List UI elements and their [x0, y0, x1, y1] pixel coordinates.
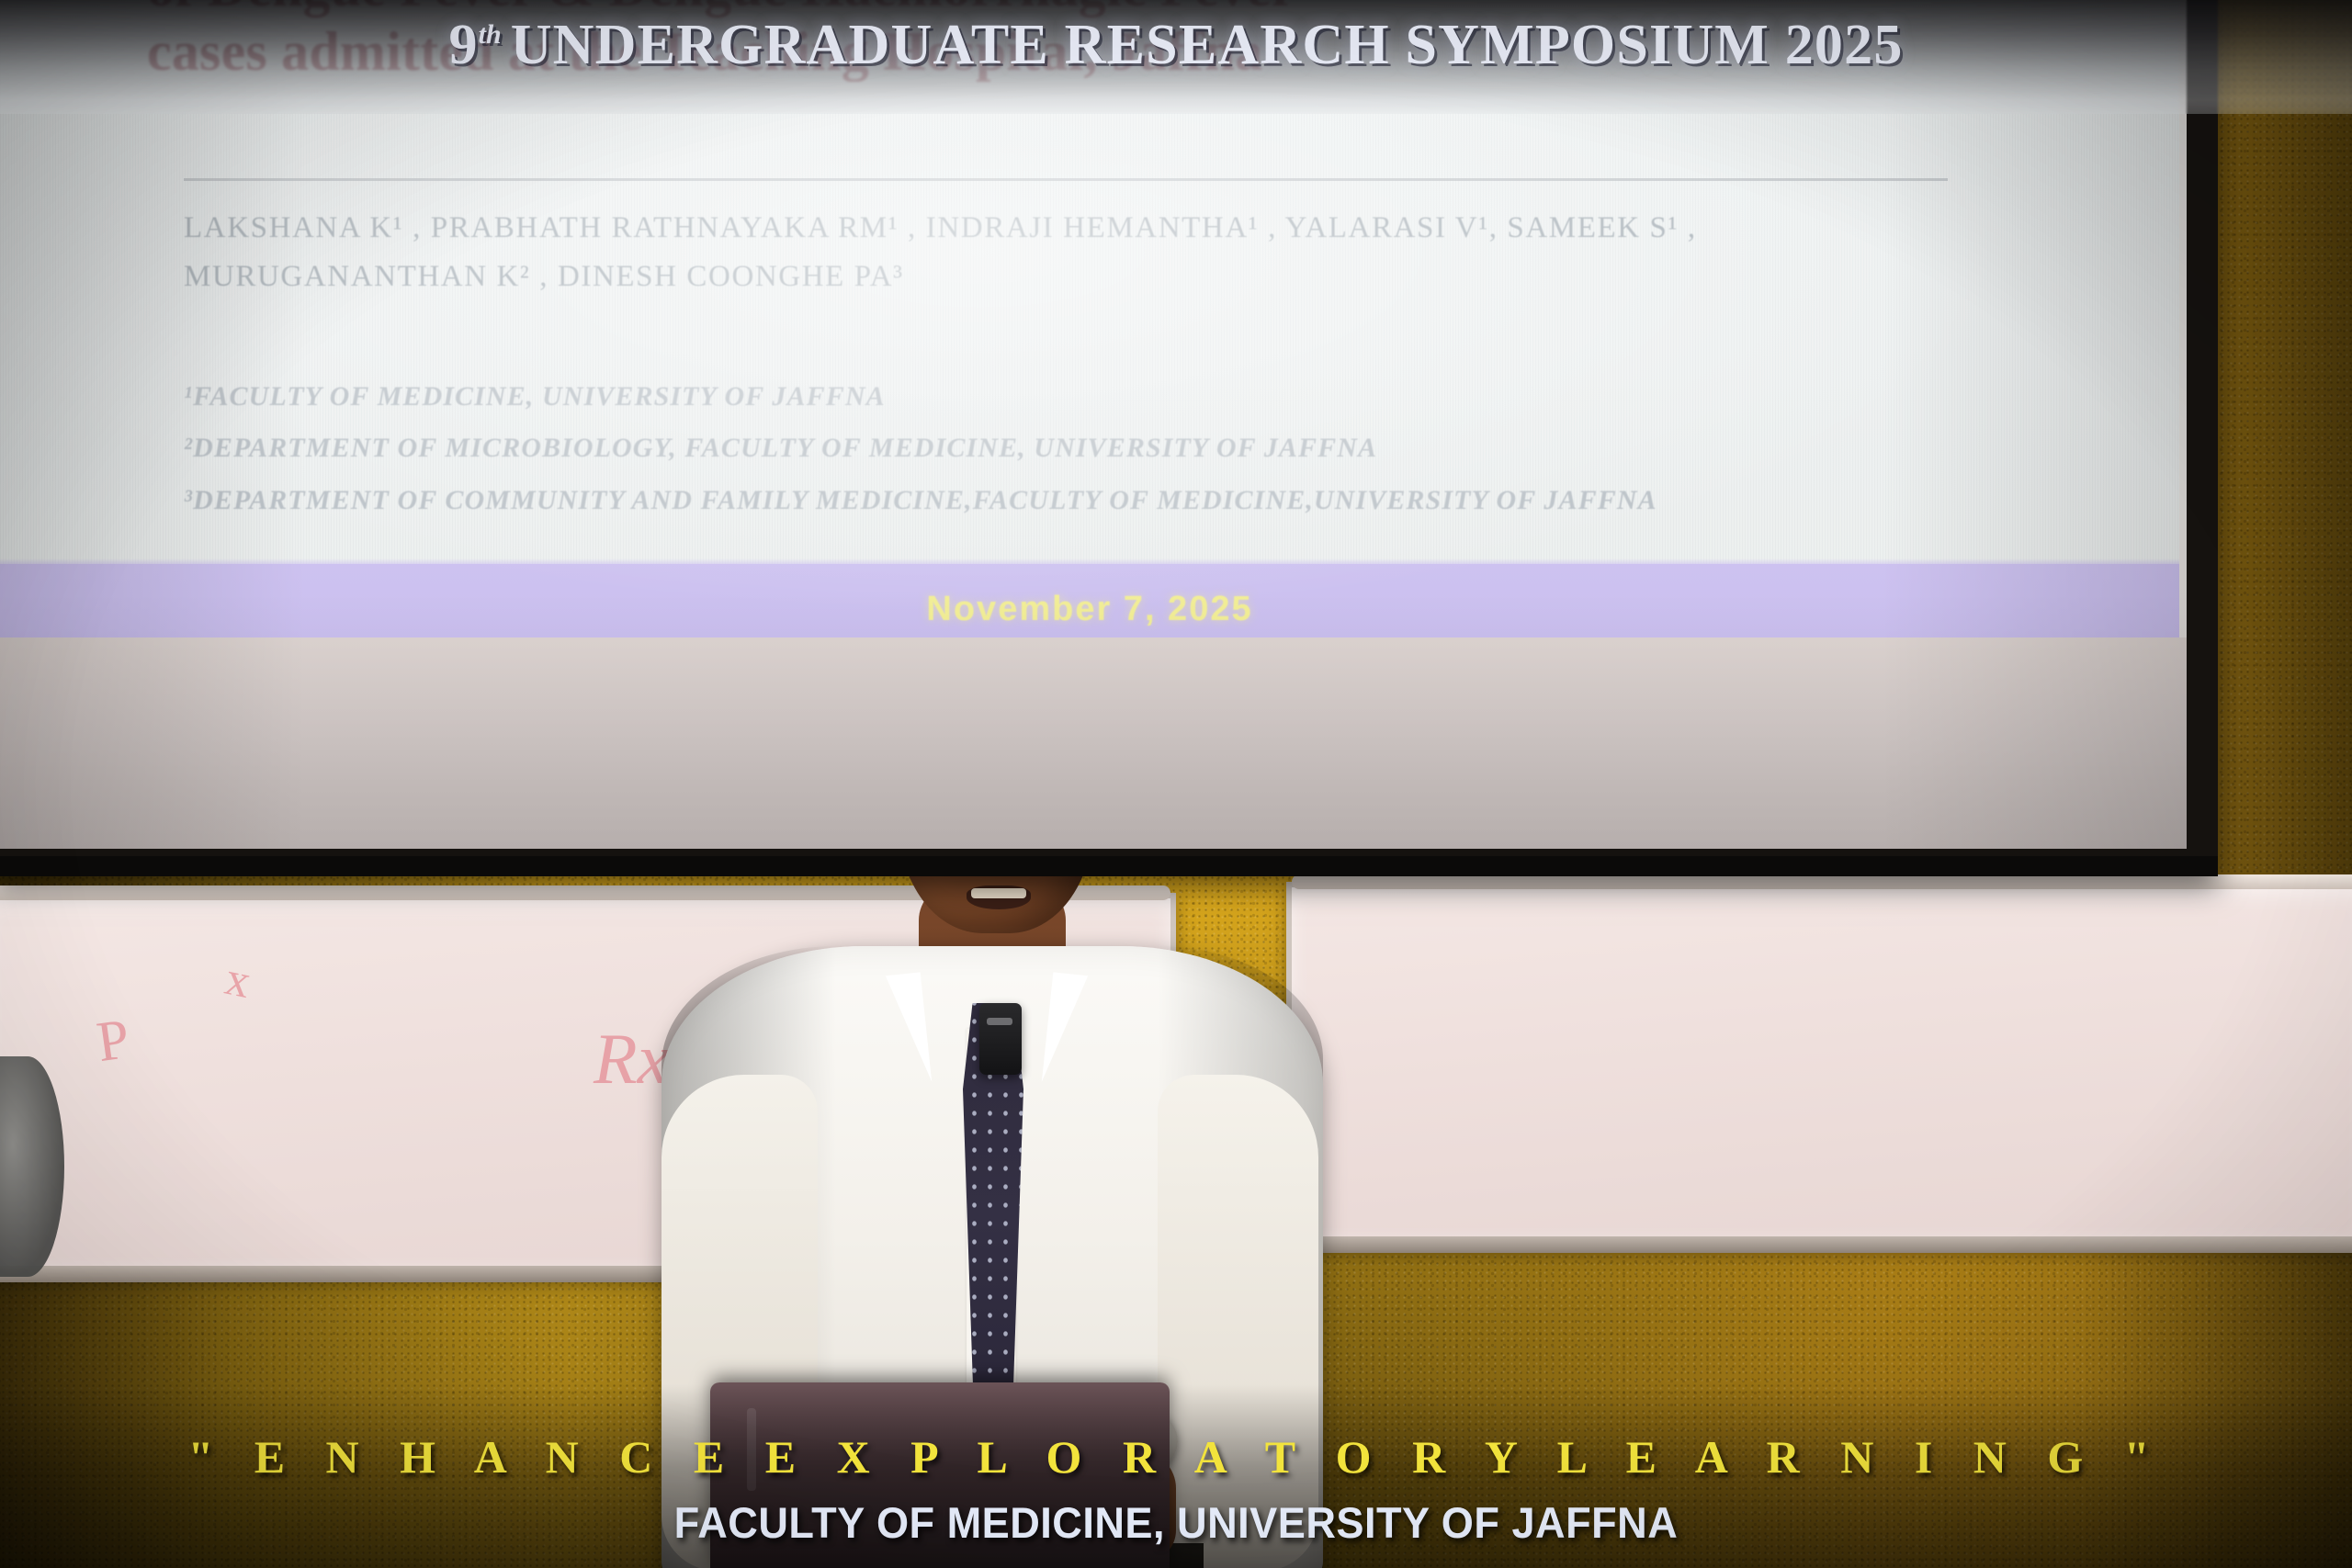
affiliation-3: ³DEPARTMENT OF COMMUNITY AND FAMILY MEDI… — [184, 475, 2168, 526]
event-header-banner: 9thUNDERGRADUATE RESEARCH SYMPOSIUM 2025 — [0, 0, 2352, 114]
author-line-1: LAKSHANA K¹ , PRABHATH RATHNAYAKA RM¹ , … — [184, 204, 2076, 253]
speaker-mouth — [967, 886, 1031, 909]
whiteboard-tray-right — [1292, 1236, 2352, 1253]
symposium-photo-frame: P x Rx — [0, 0, 2352, 1568]
event-tagline: " E N H A N C E E X P L O R A T O R Y L … — [0, 1430, 2352, 1483]
whiteboard-right — [1286, 882, 2352, 1249]
affiliation-1: ¹FACULTY OF MEDICINE, UNIVERSITY OF JAFF… — [184, 371, 2168, 423]
projection-screen-surface: of Dengue Fever & Dengue Haemorrhagic Fe… — [0, 0, 2187, 849]
organization-name: FACULTY OF MEDICINE, UNIVERSITY OF JAFFN… — [47, 1497, 2305, 1548]
slide-affiliations: ¹FACULTY OF MEDICINE, UNIVERSITY OF JAFF… — [184, 371, 2168, 526]
projection-screen-frame: of Dengue Fever & Dengue Haemorrhagic Fe… — [0, 0, 2218, 876]
slide-author-list: LAKSHANA K¹ , PRABHATH RATHNAYAKA RM¹ , … — [184, 204, 2076, 302]
whiteboard-scribble: P — [93, 1007, 133, 1076]
event-ordinal-suffix: th — [479, 19, 502, 50]
slide-date: November 7, 2025 — [0, 590, 2179, 629]
affiliation-2: ²DEPARTMENT OF MICROBIOLOGY, FACULTY OF … — [184, 423, 2168, 474]
event-title-text: UNDERGRADUATE RESEARCH SYMPOSIUM 2025 — [511, 14, 1904, 76]
whiteboard-rail-right — [1292, 874, 2352, 889]
event-ordinal-number: 9 — [448, 14, 478, 76]
slide-date-band: November 7, 2025 — [0, 564, 2179, 637]
speaker-arm-right — [1158, 1075, 1318, 1568]
screen-blank-area — [0, 637, 2187, 849]
slide-divider-rule — [184, 178, 1948, 181]
speaker-teeth — [971, 888, 1026, 898]
whiteboard-scribble: x — [220, 952, 255, 1010]
author-line-2: MURUGANANTHAN K² , DINESH COONGHE PA³ — [184, 253, 2076, 301]
lapel-microphone — [979, 1003, 1022, 1075]
event-title: 9thUNDERGRADUATE RESEARCH SYMPOSIUM 2025 — [0, 13, 2352, 78]
